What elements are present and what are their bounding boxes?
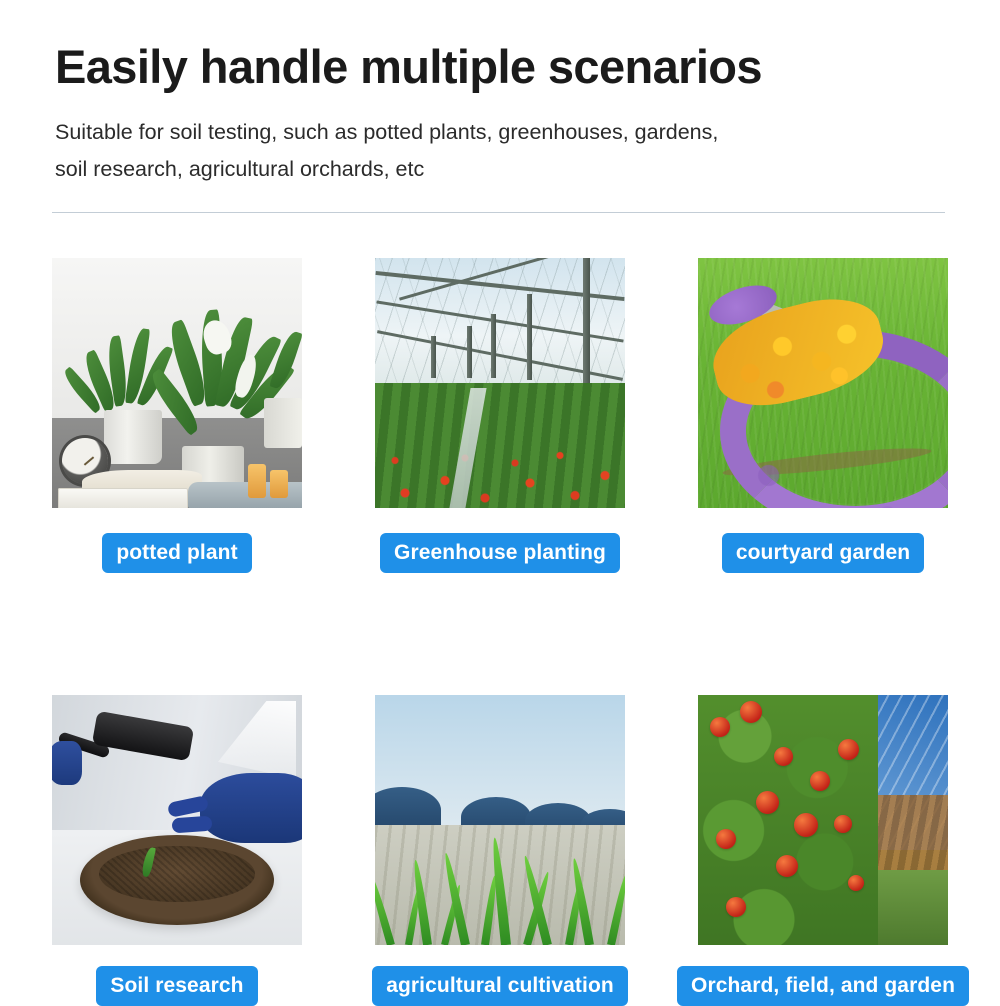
- label-row: potted plant: [52, 533, 302, 573]
- scenario-card-agricultural-cultivation[interactable]: agricultural cultivation: [375, 695, 625, 1006]
- scenario-card-soil-research[interactable]: Soil research: [52, 695, 302, 1006]
- page-subtitle: Suitable for soil testing, such as potte…: [55, 114, 755, 188]
- page-header: Easily handle multiple scenarios Suitabl…: [55, 38, 955, 188]
- label-row: Orchard, field, and garden: [698, 966, 948, 1006]
- orchard-field-garden-photo: [698, 695, 948, 945]
- label-row: Greenhouse planting: [375, 533, 625, 573]
- scenario-label-agricultural-cultivation[interactable]: agricultural cultivation: [372, 966, 628, 1006]
- scenario-label-courtyard-garden[interactable]: courtyard garden: [722, 533, 924, 573]
- page-title: Easily handle multiple scenarios: [55, 38, 955, 96]
- label-row: courtyard garden: [698, 533, 948, 573]
- header-divider: [52, 212, 945, 213]
- scenario-card-orchard-field-garden[interactable]: Orchard, field, and garden: [698, 695, 948, 1006]
- scenarios-page: Easily handle multiple scenarios Suitabl…: [0, 0, 1000, 1000]
- scenario-label-greenhouse-planting[interactable]: Greenhouse planting: [380, 533, 620, 573]
- greenhouse-planting-photo: [375, 258, 625, 508]
- scenario-label-orchard-field-garden[interactable]: Orchard, field, and garden: [677, 966, 969, 1006]
- label-row: Soil research: [52, 966, 302, 1006]
- soil-research-photo: [52, 695, 302, 945]
- scenario-card-potted-plant[interactable]: potted plant: [52, 258, 302, 573]
- label-row: agricultural cultivation: [375, 966, 625, 1006]
- agricultural-cultivation-photo: [375, 695, 625, 945]
- scenario-label-soil-research[interactable]: Soil research: [96, 966, 257, 1006]
- scenario-grid: potted plant: [52, 258, 948, 1006]
- scenario-card-courtyard-garden[interactable]: courtyard garden: [698, 258, 948, 573]
- potted-plant-photo: [52, 258, 302, 508]
- scenario-label-potted-plant[interactable]: potted plant: [102, 533, 251, 573]
- courtyard-garden-photo: [698, 258, 948, 508]
- scenario-card-greenhouse-planting[interactable]: Greenhouse planting: [375, 258, 625, 573]
